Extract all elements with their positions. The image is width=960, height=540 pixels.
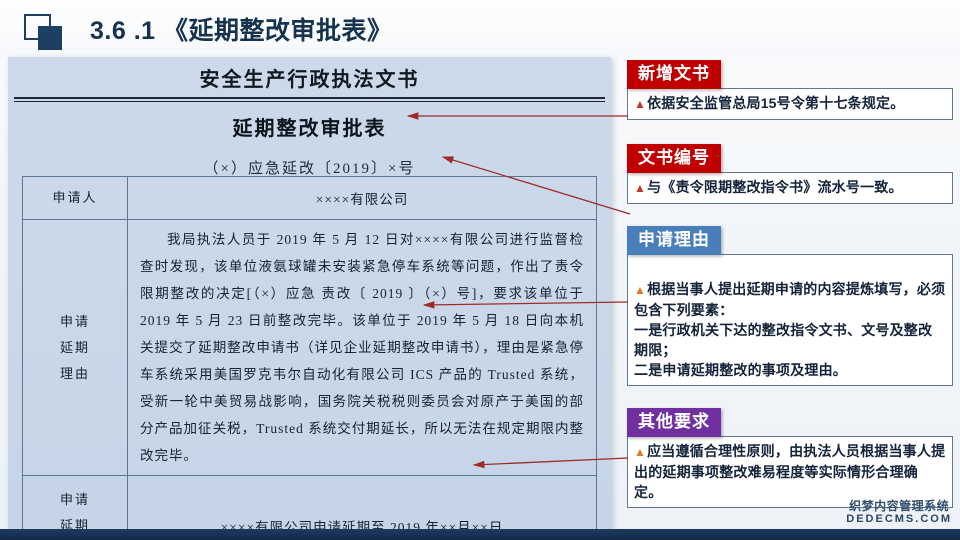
- triangle-marker-icon: ▲: [634, 283, 646, 297]
- triangle-marker-icon: ▲: [634, 97, 646, 111]
- approval-form-table: 申请人 ××××有限公司 申请 延期 理由 我局执法人员于 2019 年 5 月…: [22, 176, 597, 530]
- row-label-applicant: 申请人: [23, 177, 128, 220]
- page-title: 3.6 .1 《延期整改审批表》: [90, 15, 393, 47]
- annotation-badge: 新增文书: [627, 60, 721, 89]
- document-header: 安全生产行政执法文书 延期整改审批表 （×）应急延改〔2019〕×号: [8, 57, 611, 180]
- overlapping-squares-icon: [24, 14, 70, 52]
- row-value-applicant: ××××有限公司: [128, 177, 597, 220]
- annotation-text: 依据安全监管总局15号令第十七条规定。: [647, 95, 904, 111]
- annotation-text: 与《责令限期整改指令书》流水号一致。: [647, 179, 903, 195]
- table-row: 申请人 ××××有限公司: [23, 177, 597, 220]
- slide-header: 3.6 .1 《延期整改审批表》: [0, 0, 960, 57]
- annotation-badge: 申请理由: [627, 226, 721, 255]
- annotation-text: 根据当事人提出延期申请的内容提炼填写，必须包含下列要素： 一是行政机关下达的整改…: [634, 281, 945, 378]
- annotation-box: ▲根据当事人提出延期申请的内容提炼填写，必须包含下列要素： 一是行政机关下达的整…: [627, 254, 953, 386]
- document-form-title: 延期整改审批表: [8, 116, 611, 142]
- annotation-new-document: 新增文书 ▲依据安全监管总局15号令第十七条规定。: [627, 60, 953, 120]
- annotation-other-requirements: 其他要求 ▲应当遵循合理性原则，由执法人员根据当事人提出的延期事项整改难易程度等…: [627, 408, 953, 508]
- logo-square-solid: [38, 26, 62, 50]
- triangle-marker-icon: ▲: [634, 181, 646, 195]
- row-label-deadline: 申请 延期 时限: [23, 476, 128, 531]
- watermark-en: DEDECMS.COM: [846, 513, 952, 526]
- annotation-badge: 其他要求: [627, 408, 721, 437]
- annotation-text: 应当遵循合理性原则，由执法人员根据当事人提出的延期事项整改难易程度等实际情形合理…: [634, 443, 945, 500]
- document-panel: 安全生产行政执法文书 延期整改审批表 （×）应急延改〔2019〕×号 申请人 ×…: [8, 57, 611, 530]
- row-value-reason: 我局执法人员于 2019 年 5 月 12 日对××××有限公司进行监督检查时发…: [128, 220, 597, 476]
- triangle-marker-icon: ▲: [634, 445, 646, 459]
- watermark: 织梦内容管理系统 DEDECMS.COM: [846, 500, 952, 526]
- annotation-box: ▲应当遵循合理性原则，由执法人员根据当事人提出的延期事项整改难易程度等实际情形合…: [627, 436, 953, 508]
- annotation-box: ▲与《责令限期整改指令书》流水号一致。: [627, 172, 953, 204]
- table-row: 申请 延期 理由 我局执法人员于 2019 年 5 月 12 日对××××有限公…: [23, 220, 597, 476]
- bottom-band: [0, 529, 960, 540]
- annotation-column: 新增文书 ▲依据安全监管总局15号令第十七条规定。 文书编号 ▲与《责令限期整改…: [627, 60, 953, 519]
- watermark-cn: 织梦内容管理系统: [846, 500, 952, 513]
- annotation-box: ▲依据安全监管总局15号令第十七条规定。: [627, 88, 953, 120]
- row-label-reason: 申请 延期 理由: [23, 220, 128, 476]
- annotation-application-reason: 申请理由 ▲根据当事人提出延期申请的内容提炼填写，必须包含下列要素： 一是行政机…: [627, 226, 953, 386]
- document-divider-rule: [14, 97, 605, 102]
- table-row: 申请 延期 时限 ××××有限公司申请延期至 2019 年××月××日: [23, 476, 597, 531]
- annotation-badge: 文书编号: [627, 144, 721, 173]
- annotation-document-number: 文书编号 ▲与《责令限期整改指令书》流水号一致。: [627, 144, 953, 204]
- document-org-title: 安全生产行政执法文书: [8, 67, 611, 93]
- row-value-deadline: ××××有限公司申请延期至 2019 年××月××日: [128, 476, 597, 531]
